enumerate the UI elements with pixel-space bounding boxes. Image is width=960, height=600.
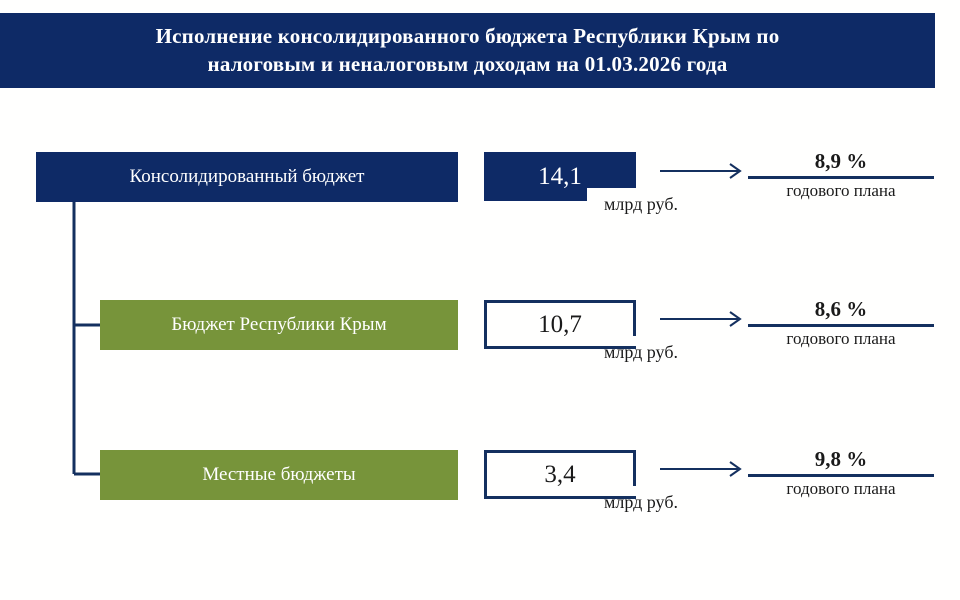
row-label-box[interactable]: Местные бюджеты <box>100 450 458 500</box>
row-label-text: Бюджет Республики Крым <box>171 315 386 336</box>
row-value-text: 14,1 <box>484 152 636 201</box>
row-value-text: 10,7 <box>484 300 636 349</box>
row-label-box[interactable]: Консолидированный бюджет <box>36 152 458 202</box>
row-value-box: 10,7 <box>484 300 636 349</box>
fraction-rule <box>748 176 934 179</box>
row-percent-value: 8,9 % <box>748 148 934 174</box>
arrow-icon <box>660 310 746 328</box>
row-label-text: Местные бюджеты <box>202 465 355 486</box>
row-percent-value: 9,8 % <box>748 446 934 472</box>
row-percent-caption: годового плана <box>748 328 934 350</box>
fraction-rule <box>748 324 934 327</box>
row-label-box[interactable]: Бюджет Республики Крым <box>100 300 458 350</box>
row-percent-caption: годового плана <box>748 180 934 202</box>
row-value-box: 3,4 <box>484 450 636 499</box>
arrow-icon <box>660 162 746 180</box>
slide-canvas: Исполнение консолидированного бюджета Ре… <box>0 0 960 600</box>
row-percent-fraction: 8,6 % годового плана <box>748 296 934 350</box>
row-percent-value: 8,6 % <box>748 296 934 322</box>
row-percent-fraction: 8,9 % годового плана <box>748 148 934 202</box>
arrow-icon <box>660 460 746 478</box>
title-banner: Исполнение консолидированного бюджета Ре… <box>0 13 935 88</box>
row-percent-caption: годового плана <box>748 478 934 500</box>
row-label-text: Консолидированный бюджет <box>130 167 365 188</box>
row-percent-fraction: 9,8 % годового плана <box>748 446 934 500</box>
page-title: Исполнение консолидированного бюджета Ре… <box>156 23 780 79</box>
row-value-box: 14,1 <box>484 152 636 201</box>
fraction-rule <box>748 474 934 477</box>
row-value-text: 3,4 <box>484 450 636 499</box>
